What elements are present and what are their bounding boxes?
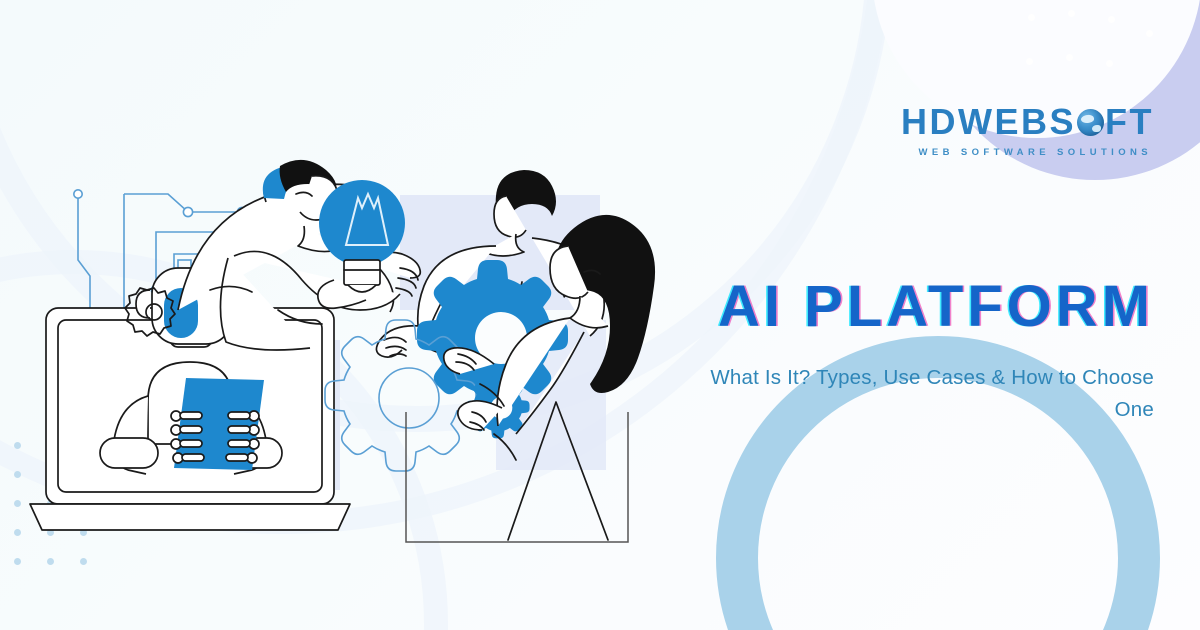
brand-logo[interactable]: HDWEBS FT WEB SOFTWARE SOLUTIONS bbox=[901, 104, 1154, 158]
decor-dot bbox=[14, 471, 21, 478]
decor-dot bbox=[14, 558, 21, 565]
logo-text-secondary: FT bbox=[1105, 104, 1154, 140]
page-subtitle: What Is It? Types, Use Cases & How to Ch… bbox=[684, 362, 1154, 426]
logo-tagline: WEB SOFTWARE SOLUTIONS bbox=[901, 147, 1152, 158]
decor-dot bbox=[14, 529, 21, 536]
globe-icon bbox=[1077, 109, 1104, 136]
decor-dot bbox=[14, 442, 21, 449]
content-column: HDWEBS FT WEB SOFTWARE SOLUTIONS AI PLAT… bbox=[654, 0, 1154, 630]
hero-illustration: .ln{fill:none;stroke:#1a1a1a;stroke-widt… bbox=[28, 150, 668, 580]
logo-wordmark: HDWEBS FT bbox=[901, 104, 1154, 140]
ai-platform-banner: .ln{fill:none;stroke:#1a1a1a;stroke-widt… bbox=[0, 0, 1200, 630]
page-title: AI PLATFORM bbox=[718, 278, 1154, 336]
decor-dot bbox=[14, 500, 21, 507]
logo-text-primary: HDWEBS bbox=[901, 104, 1076, 140]
